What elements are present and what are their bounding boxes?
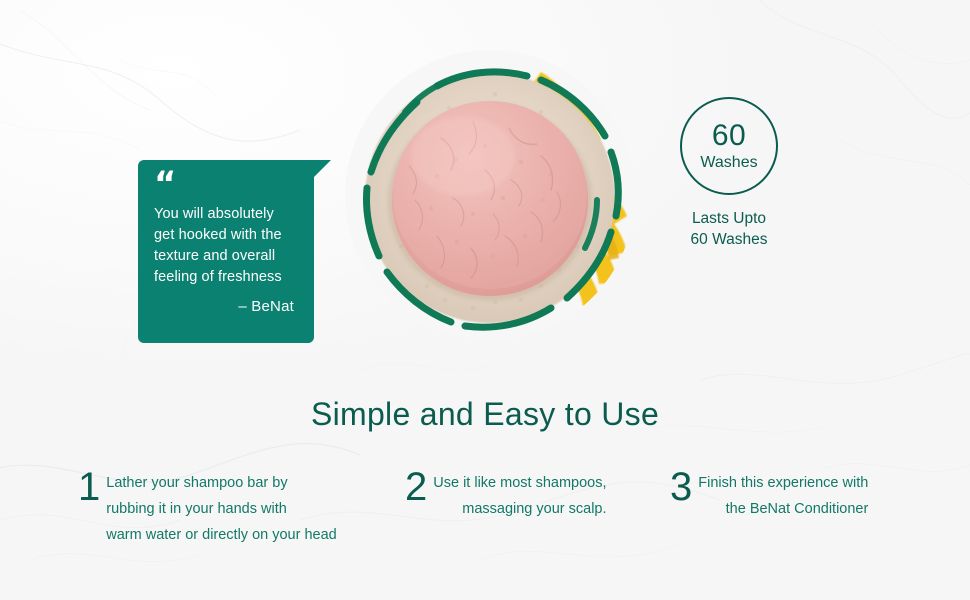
washes-badge-circle: 60 Washes xyxy=(680,97,778,195)
step-line: the BeNat Conditioner xyxy=(698,496,868,522)
washes-caption-line-2: 60 Washes xyxy=(668,229,790,250)
step-line: warm water or directly on your head xyxy=(106,522,337,548)
usage-step-2: 2 Use it like most shampoos, massaging y… xyxy=(405,470,635,522)
washes-badge: 60 Washes Lasts Upto 60 Washes xyxy=(680,97,778,250)
step-number: 2 xyxy=(405,470,427,504)
quote-mark-icon: “ xyxy=(154,172,300,198)
quote-line: You will absolutely xyxy=(154,204,300,225)
quote-card-tail xyxy=(314,160,331,177)
quote-line: texture and overall xyxy=(154,246,300,267)
step-number: 3 xyxy=(670,470,692,504)
usage-steps: 1 Lather your shampoo bar by rubbing it … xyxy=(0,468,970,568)
step-text: Lather your shampoo bar by rubbing it in… xyxy=(106,470,337,548)
quote-line: get hooked with the xyxy=(154,225,300,246)
step-line: Lather your shampoo bar by xyxy=(106,470,337,496)
usage-step-3: 3 Finish this experience with the BeNat … xyxy=(670,470,905,522)
washes-unit-label: Washes xyxy=(700,153,757,172)
product-photo xyxy=(345,50,635,340)
bar-highlight xyxy=(411,116,515,196)
quote-line: feeling of freshness xyxy=(154,267,300,288)
infographic-canvas: “ You will absolutely get hooked with th… xyxy=(0,0,970,600)
step-line: rubbing it in your hands with xyxy=(106,496,337,522)
quote-attribution: – BeNat xyxy=(154,298,300,315)
step-line: Finish this experience with xyxy=(698,470,868,496)
quote-text: You will absolutely get hooked with the … xyxy=(154,204,300,288)
section-heading: Simple and Easy to Use xyxy=(0,396,970,433)
washes-caption-line-1: Lasts Upto xyxy=(668,208,790,229)
washes-count: 60 xyxy=(712,121,746,151)
step-line: Use it like most shampoos, xyxy=(433,470,606,496)
washes-caption: Lasts Upto 60 Washes xyxy=(668,208,790,250)
step-line: massaging your scalp. xyxy=(433,496,606,522)
shampoo-bar-illustration xyxy=(345,50,635,340)
step-number: 1 xyxy=(78,470,100,504)
step-text: Use it like most shampoos, massaging you… xyxy=(433,470,606,522)
step-text: Finish this experience with the BeNat Co… xyxy=(698,470,868,522)
testimonial-quote-card: “ You will absolutely get hooked with th… xyxy=(138,160,314,343)
usage-step-1: 1 Lather your shampoo bar by rubbing it … xyxy=(78,470,388,548)
